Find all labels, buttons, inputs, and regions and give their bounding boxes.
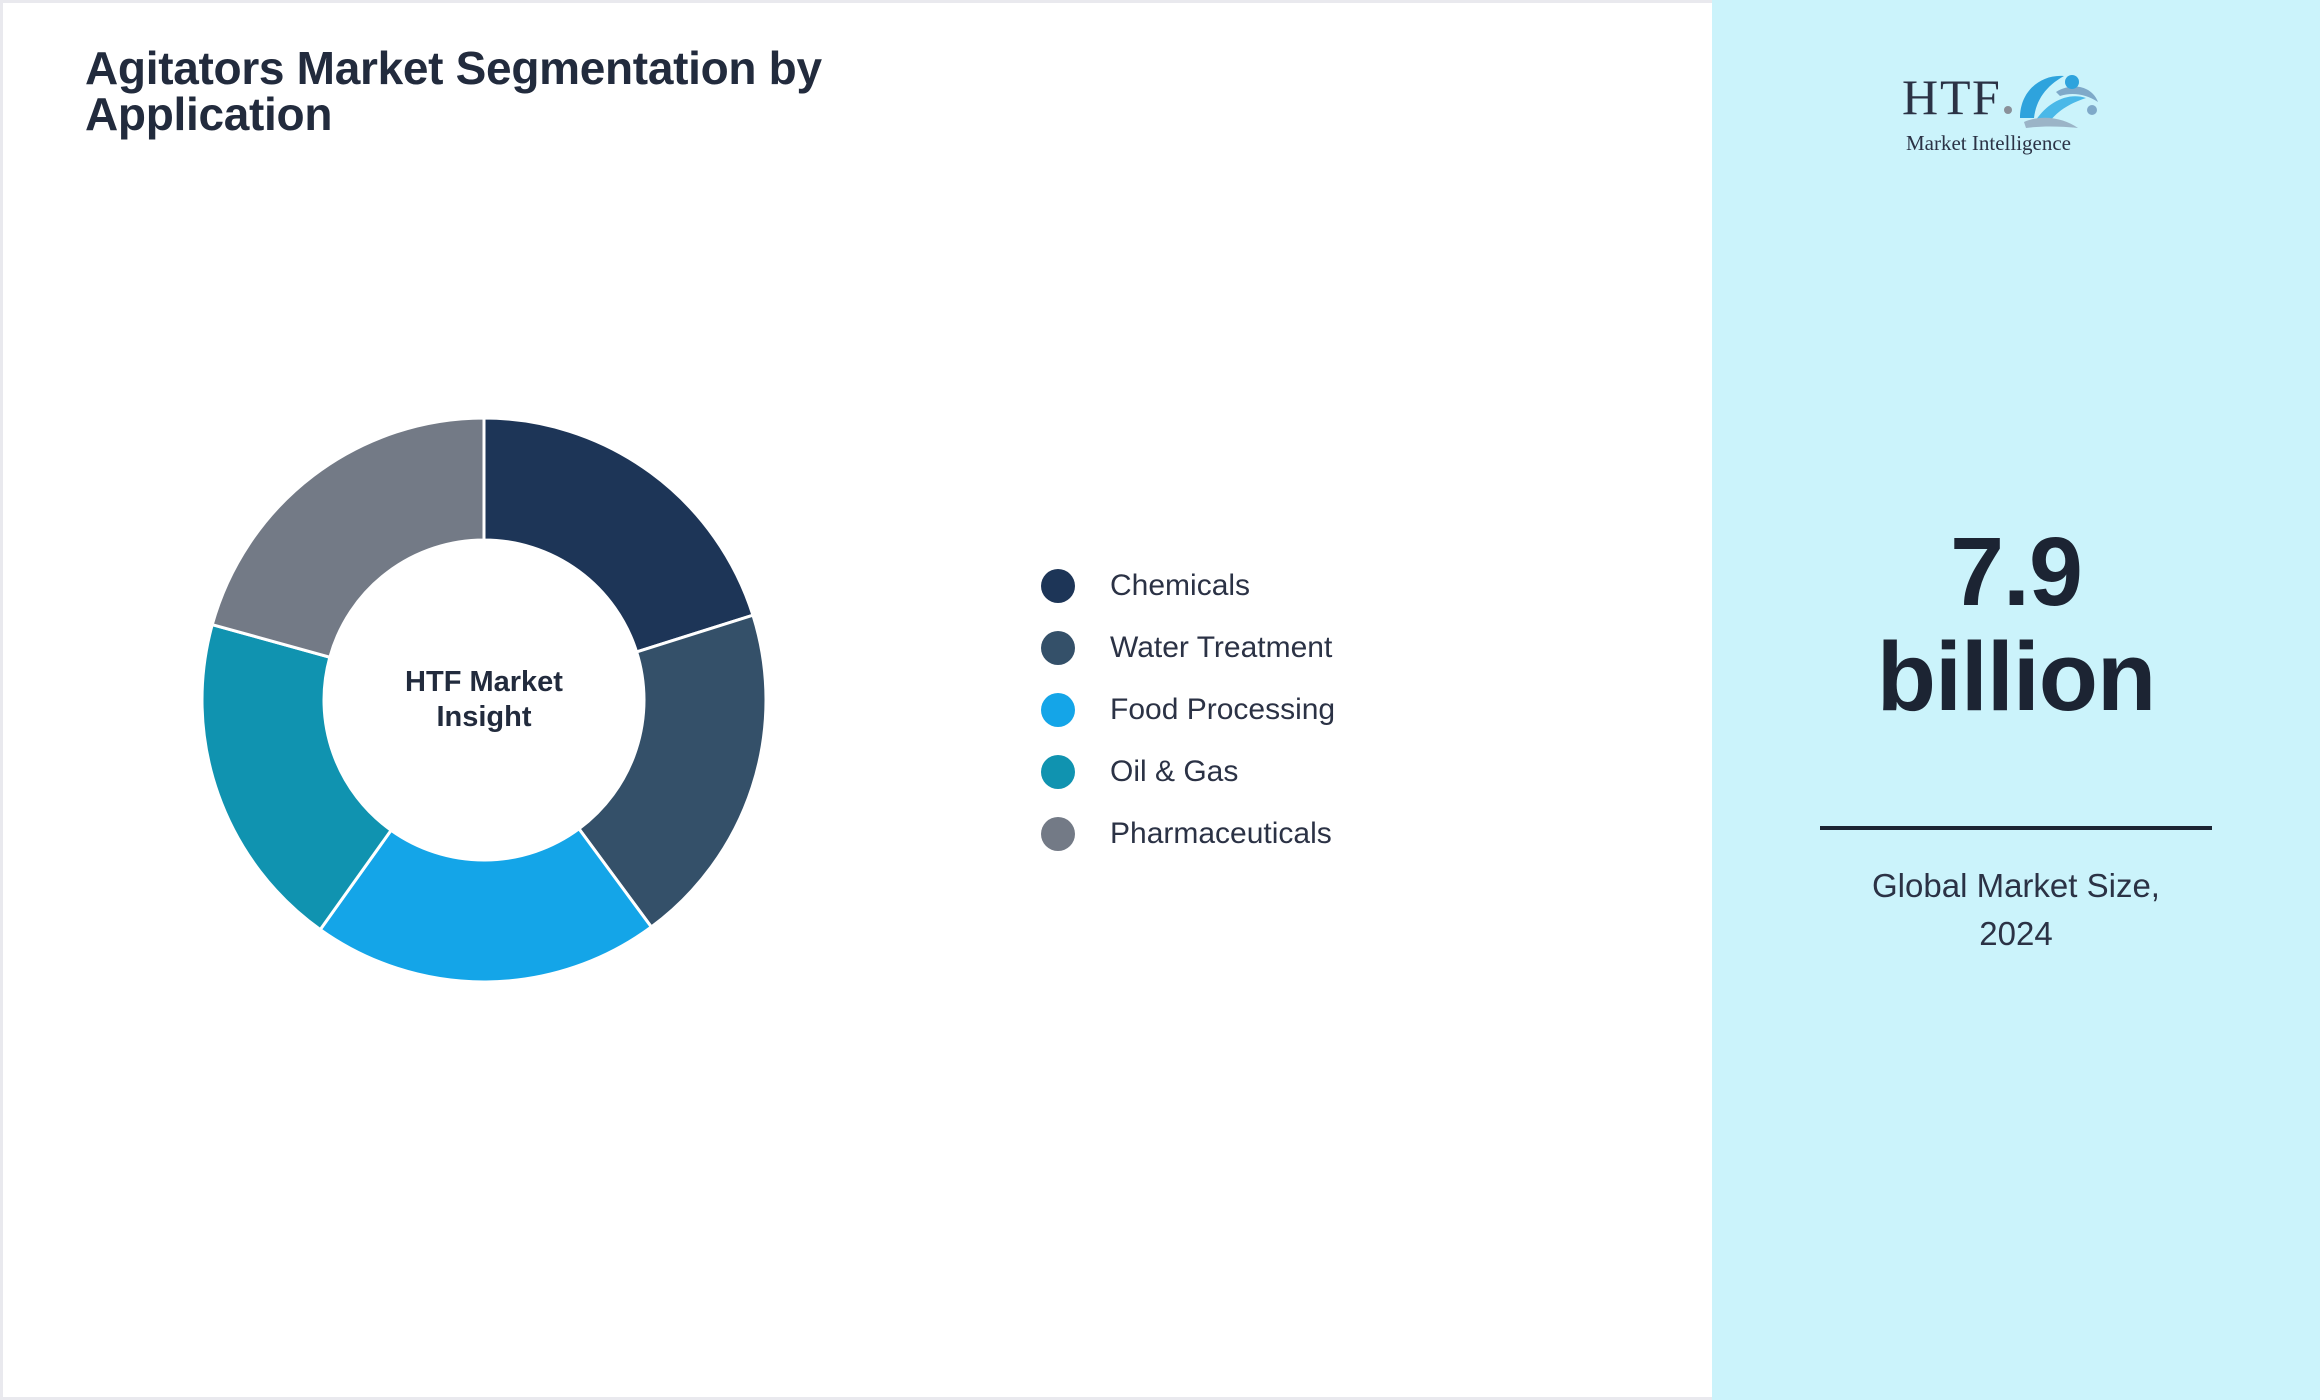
kpi-caption: Global Market Size, 2024 xyxy=(1712,862,2320,958)
svg-text:F: F xyxy=(1972,69,1999,125)
kpi-value-unit: billion xyxy=(1712,625,2320,730)
kpi-caption-line-2: 2024 xyxy=(1792,910,2240,958)
kpi-caption-line-1: Global Market Size, xyxy=(1792,862,2240,910)
legend-item-label: Chemicals xyxy=(1110,569,1250,603)
donut-chart: HTF Market Insight xyxy=(202,418,766,982)
kpi-value-number: 7.9 xyxy=(1712,520,2320,625)
legend-item-label: Pharmaceuticals xyxy=(1110,817,1332,851)
donut-slice[interactable] xyxy=(212,418,484,657)
logo-tagline: Market Intelligence xyxy=(1906,131,2071,155)
legend-item[interactable]: Chemicals xyxy=(1041,555,1335,617)
page-title-line-1: Agitators Market Segmentation by xyxy=(85,45,1065,91)
legend-item[interactable]: Oil & Gas xyxy=(1041,741,1335,803)
page-title-line-2: Application xyxy=(85,91,1065,137)
kpi-value: 7.9 billion xyxy=(1712,520,2320,730)
svg-text:H: H xyxy=(1902,69,1937,125)
logo-swoosh-icon xyxy=(2020,75,2098,128)
page-title: Agitators Market Segmentation by Applica… xyxy=(85,45,1065,137)
donut-slice-group xyxy=(202,418,766,982)
kpi-sidebar: H T F Market Intelligence 7.9 billion Gl… xyxy=(1712,0,2320,1400)
legend-swatch-icon xyxy=(1041,755,1075,789)
svg-text:T: T xyxy=(1940,69,1970,125)
infographic-root: Agitators Market Segmentation by Applica… xyxy=(0,0,2320,1400)
legend-swatch-icon xyxy=(1041,631,1075,665)
legend-item-label: Food Processing xyxy=(1110,693,1335,727)
chart-legend: ChemicalsWater TreatmentFood ProcessingO… xyxy=(1041,555,1335,865)
legend-item-label: Oil & Gas xyxy=(1110,755,1238,789)
legend-swatch-icon xyxy=(1041,569,1075,603)
donut-slice[interactable] xyxy=(484,418,753,652)
kpi-divider xyxy=(1820,826,2212,830)
legend-item[interactable]: Pharmaceuticals xyxy=(1041,803,1335,865)
legend-swatch-icon xyxy=(1041,693,1075,727)
htf-market-intelligence-logo: H T F Market Intelligence xyxy=(1896,62,2136,172)
legend-swatch-icon xyxy=(1041,817,1075,851)
donut-chart-svg xyxy=(202,418,766,982)
legend-item[interactable]: Food Processing xyxy=(1041,679,1335,741)
legend-item-label: Water Treatment xyxy=(1110,631,1332,665)
legend-item[interactable]: Water Treatment xyxy=(1041,617,1335,679)
chart-panel: Agitators Market Segmentation by Applica… xyxy=(0,0,1712,1400)
